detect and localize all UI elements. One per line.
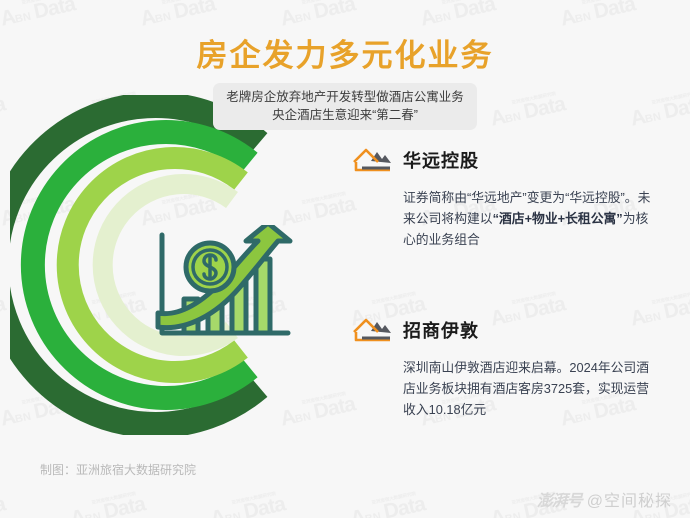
section-header: 招商伊敦 [352, 310, 672, 350]
section-title: 华远控股 [403, 147, 479, 173]
section-body: 证券简称由“华远地产”变更为“华远控股”。未来公司将构建以“酒店+物业+长租公寓… [403, 187, 655, 250]
section-title: 招商伊敦 [403, 317, 479, 343]
watermark-mark: ABNData亚洲旅宿大数据研究院 [208, 492, 287, 518]
section-body: 深圳南山伊敦酒店迎来启幕。2024年公司酒店业务板块拥有酒店客房3725套，实现… [403, 357, 655, 420]
content-sections: 华远控股 证券简称由“华远地产”变更为“华远控股”。未来公司将构建以“酒店+物业… [352, 140, 672, 420]
header: 房企发力多元化业务 老牌房企放弃地产开发转型做酒店公寓业务 央企酒店生意迎来“第… [0, 0, 690, 130]
infographic-canvas: ABNData亚洲旅宿大数据研究院ABNData亚洲旅宿大数据研究院ABNDat… [0, 0, 690, 518]
subtitle-line-2: 央企酒店生意迎来“第二春” [226, 106, 464, 124]
growth-chart-icon [140, 225, 300, 350]
watermark-mark: ABNData亚洲旅宿大数据研究院 [0, 292, 7, 331]
section-header: 华远控股 [352, 140, 672, 180]
credit-line: 制图：亚洲旅宿大数据研究院 [40, 461, 196, 478]
watermark-mark: ABNData亚洲旅宿大数据研究院 [68, 492, 147, 518]
brand-logo: 澎湃号 [537, 487, 582, 511]
subtitle-line-1: 老牌房企放弃地产开发转型做酒店公寓业务 [226, 88, 464, 106]
house-mountain-icon [352, 314, 392, 346]
page-title: 房企发力多元化业务 [0, 38, 690, 74]
brand-watermark: 澎湃号 @空间秘探 [537, 487, 672, 511]
chart-bar-4 [256, 259, 270, 333]
house-mountain-icon [352, 144, 392, 176]
subtitle-badge: 老牌房企放弃地产开发转型做酒店公寓业务 央企酒店生意迎来“第二春” [213, 83, 477, 130]
watermark-mark: ABNData亚洲旅宿大数据研究院 [0, 492, 7, 518]
watermark-mark: ABNData亚洲旅宿大数据研究院 [348, 492, 427, 518]
section-zhaoshang-yidun: 招商伊敦 深圳南山伊敦酒店迎来启幕。2024年公司酒店业务板块拥有酒店客房372… [352, 310, 672, 420]
section-huayuan: 华远控股 证券简称由“华远地产”变更为“华远控股”。未来公司将构建以“酒店+物业… [352, 140, 672, 250]
brand-handle: @空间秘探 [587, 487, 672, 511]
